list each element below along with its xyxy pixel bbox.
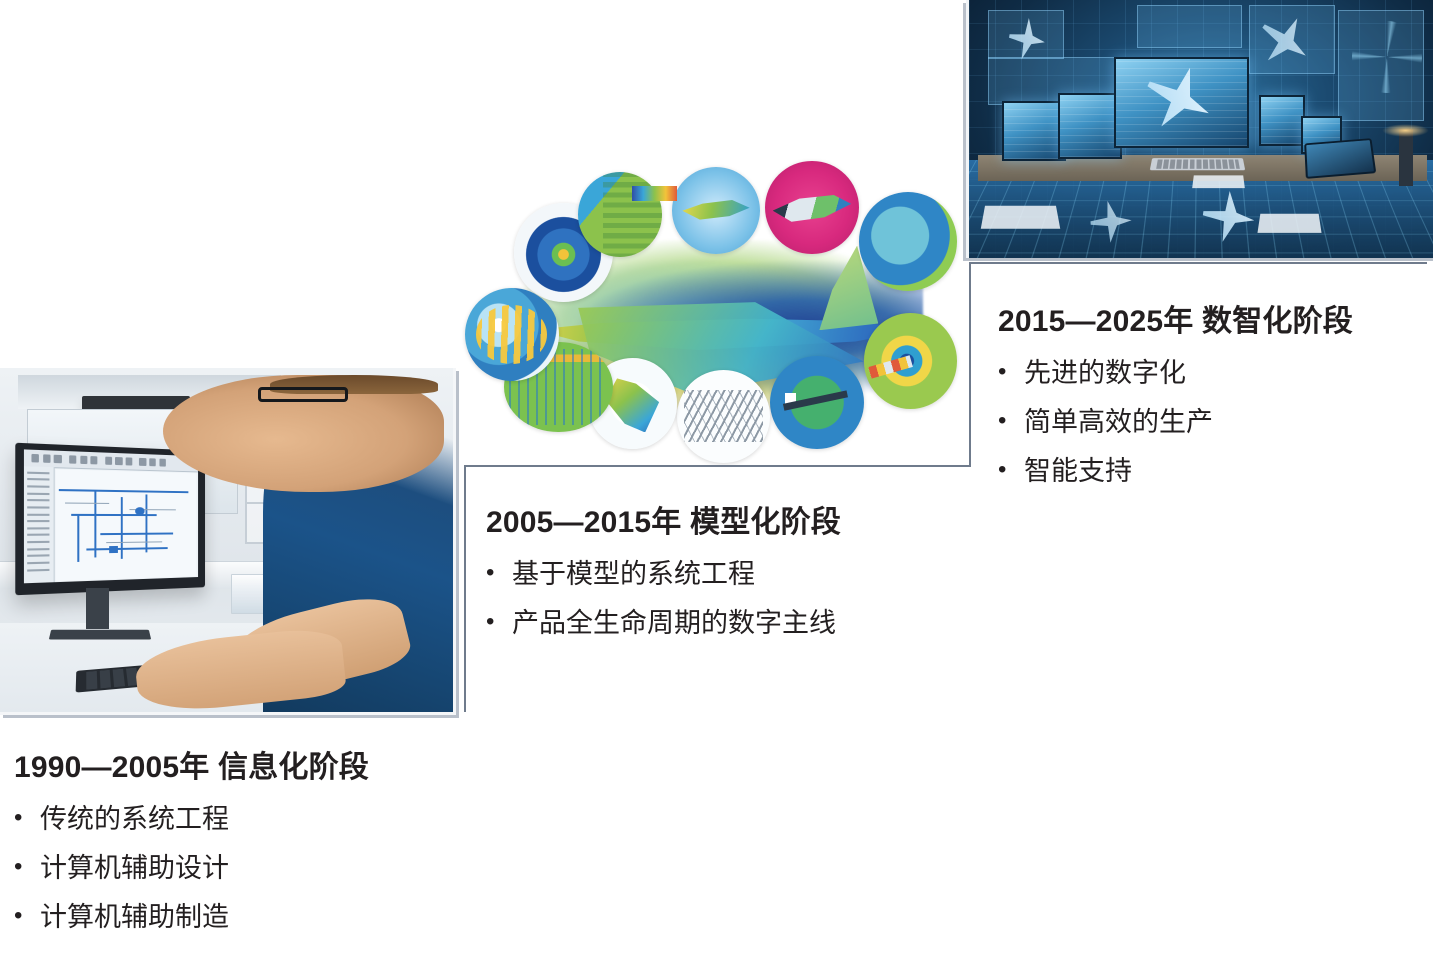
- workstation-tablet: [1304, 138, 1376, 178]
- sim-thumb-wireframe-wing: [677, 370, 770, 463]
- bullet-text: 基于模型的系统工程: [512, 559, 755, 590]
- list-item: • 基于模型的系统工程: [486, 559, 841, 590]
- list-item: • 先进的数字化: [998, 358, 1353, 389]
- office-engineer-cad-photo: [0, 368, 456, 715]
- phase-title-2015-2025: 2015—2025年 数智化阶段: [998, 296, 1353, 340]
- list-item: • 产品全生命周期的数字主线: [486, 608, 841, 639]
- bullet-dot-icon: •: [14, 853, 40, 881]
- sim-thumb-blade-mesh: [578, 172, 662, 257]
- cad-schematic-drawing: [56, 469, 197, 581]
- phase-bullets-2005-2015: • 基于模型的系统工程 • 产品全生命周期的数字主线: [486, 559, 841, 639]
- bullet-dot-icon: •: [14, 902, 40, 930]
- sim-thumb-mesh-sphere: [770, 356, 863, 449]
- bullet-dot-icon: •: [486, 559, 512, 587]
- phase-block-1990-2005: 1990—2005年 信息化阶段 • 传统的系统工程 • 计算机辅助设计 • 计…: [14, 742, 369, 933]
- phase-block-2015-2025: 2015—2025年 数智化阶段 • 先进的数字化 • 简单高效的生产 • 智能…: [998, 296, 1353, 487]
- sim-thumb-cabin-occupants: [465, 288, 558, 381]
- radar-compass-icon: [1352, 21, 1422, 93]
- sim-thumb-fuselage-section: [859, 192, 957, 291]
- list-item: • 计算机辅助制造: [14, 902, 369, 933]
- colorbar-legend: [632, 186, 676, 200]
- phase-bullets-2015-2025: • 先进的数字化 • 简单高效的生产 • 智能支持: [998, 358, 1353, 487]
- bullet-text: 先进的数字化: [1024, 358, 1186, 389]
- water-glass: [231, 574, 265, 614]
- monitor-screen: [24, 449, 198, 583]
- bullet-text: 传统的系统工程: [40, 804, 229, 835]
- phase-title-1990-2005: 1990—2005年 信息化阶段: [14, 742, 369, 786]
- list-item: • 智能支持: [998, 456, 1353, 487]
- eyeglasses-icon: [258, 387, 348, 402]
- desk-paper-1: [981, 206, 1060, 229]
- cad-tree-panel: [24, 467, 55, 584]
- sim-thumb-aircraft-pressure: [672, 167, 761, 254]
- slide-canvas: 1990—2005年 信息化阶段 • 传统的系统工程 • 计算机辅助设计 • 计…: [0, 0, 1433, 977]
- bullet-text: 计算机辅助设计: [40, 853, 229, 884]
- desktop-monitor: [15, 443, 205, 596]
- bullet-dot-icon: •: [998, 407, 1024, 435]
- list-item: • 传统的系统工程: [14, 804, 369, 835]
- monitor-stand: [86, 588, 109, 629]
- phase-bullets-1990-2005: • 传统的系统工程 • 计算机辅助设计 • 计算机辅助制造: [14, 804, 369, 933]
- cfd-simulation-montage: [470, 178, 962, 460]
- monitor-base: [49, 630, 151, 640]
- phase-block-2005-2015: 2005—2015年 模型化阶段 • 基于模型的系统工程 • 产品全生命周期的数…: [486, 497, 841, 639]
- bullet-text: 智能支持: [1024, 456, 1132, 487]
- sim-thumb-aircraft-magenta: [765, 161, 858, 254]
- digital-intelligent-workstation-photo: [966, 0, 1433, 258]
- bullet-dot-icon: •: [998, 358, 1024, 386]
- workstation-keyboard: [1150, 158, 1246, 170]
- bullet-text: 简单高效的生产: [1024, 407, 1213, 438]
- list-item: • 简单高效的生产: [998, 407, 1353, 438]
- sim-thumb-vortex-core: [864, 313, 957, 409]
- engineer-head: [163, 375, 444, 492]
- desk-paper-3: [1192, 176, 1245, 189]
- phase-title-2005-2015: 2005—2015年 模型化阶段: [486, 497, 841, 541]
- wall-display-3: [1137, 5, 1242, 48]
- bullet-dot-icon: •: [998, 456, 1024, 484]
- desk-paper-2: [1257, 214, 1321, 233]
- list-item: • 计算机辅助设计: [14, 853, 369, 884]
- monitor-right-1: [1259, 95, 1305, 145]
- bullet-text: 产品全生命周期的数字主线: [512, 608, 836, 639]
- bullet-dot-icon: •: [14, 804, 40, 832]
- monitor-left-1: [1002, 101, 1067, 162]
- bullet-text: 计算机辅助制造: [40, 902, 229, 933]
- monitor-left-2: [1058, 93, 1123, 159]
- bullet-dot-icon: •: [486, 608, 512, 636]
- desk-lamp-icon: [1399, 129, 1413, 186]
